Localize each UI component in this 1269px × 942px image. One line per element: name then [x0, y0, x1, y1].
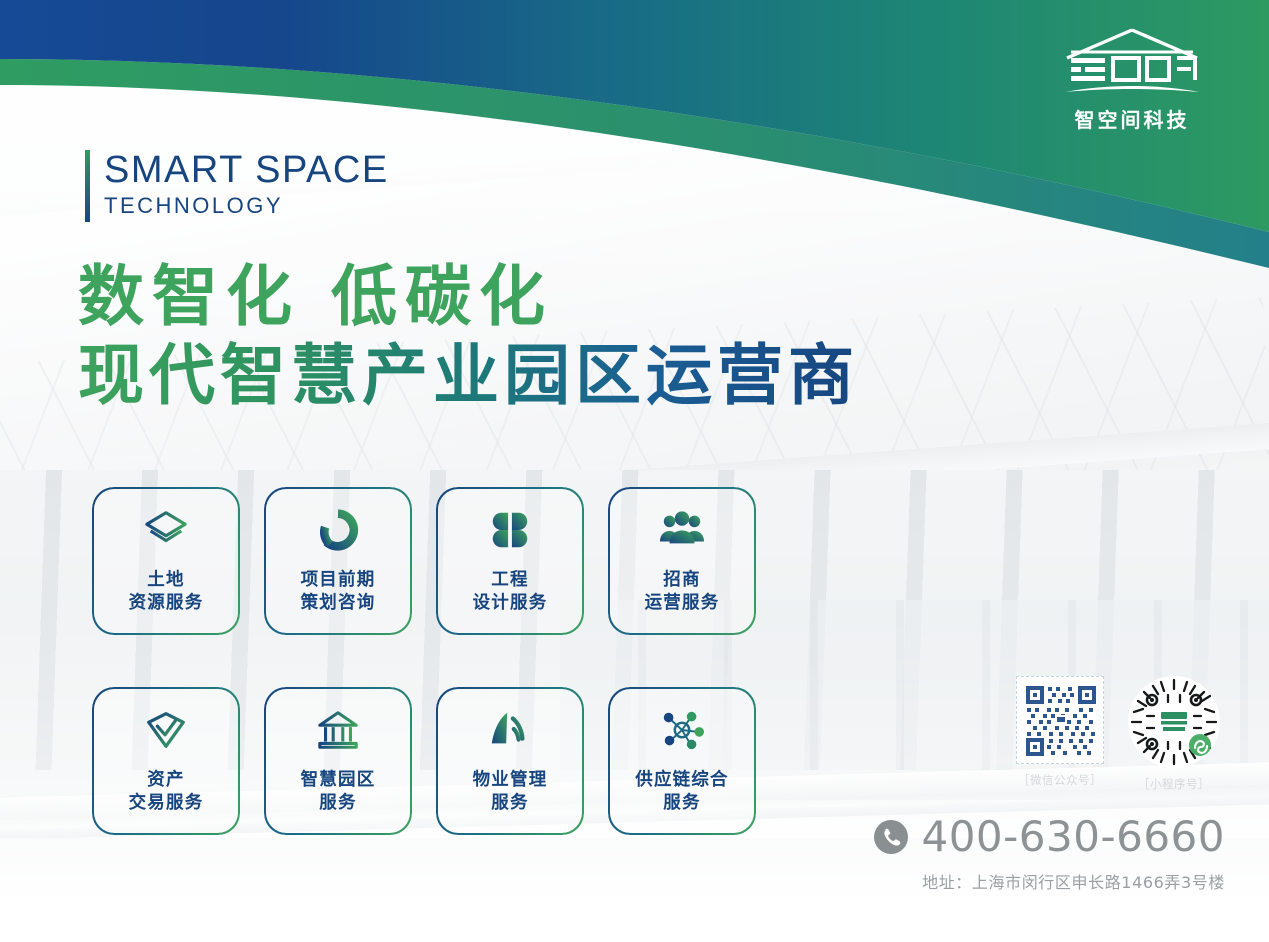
card-label-line-1: 物业管理 — [473, 770, 548, 790]
service-card-smart-park[interactable]: 智慧园区 服务 — [264, 687, 412, 835]
shield-check-icon — [143, 707, 189, 753]
card-label-line-1: 工程 — [491, 570, 528, 590]
phone-icon — [874, 820, 908, 854]
card-label-line-2: 资源服务 — [129, 593, 204, 613]
headline-block: 数智化 低碳化 现代智慧产业园区运营商 — [78, 258, 859, 415]
mini-program-qr-icon[interactable] — [1128, 676, 1220, 768]
service-card-property-management[interactable]: 物业管理 服务 — [436, 687, 584, 835]
qr-item-mini-program[interactable]: ［小程序号］ — [1126, 676, 1222, 792]
english-title-block: SMART SPACE TECHNOLOGY — [85, 150, 389, 222]
card-label-line-2: 交易服务 — [129, 793, 204, 813]
qr-code-zone: ［微信公众号］ — [1012, 676, 1222, 792]
card-label-line-2: 设计服务 — [473, 593, 548, 613]
card-label-line-2: 运营服务 — [645, 593, 720, 613]
headline-line-1: 数智化 低碳化 — [78, 258, 859, 336]
qr-caption: ［小程序号］ — [1126, 776, 1222, 792]
layers-icon — [143, 507, 189, 553]
qr-caption: ［微信公众号］ — [1012, 772, 1108, 788]
card-label-line-1: 项目前期 — [301, 570, 376, 590]
card-label-line-1: 土地 — [147, 570, 184, 590]
card-label-line-1: 资产 — [147, 770, 184, 790]
phone-number[interactable]: 400-630-6660 — [921, 812, 1225, 861]
logo-text: 智空间科技 — [1037, 104, 1227, 133]
accent-bar — [85, 150, 90, 222]
poster-canvas: 智空间科技 SMART SPACE TECHNOLOGY 数智化 低碳化 现代智… — [0, 0, 1269, 942]
headline-line-2: 现代智慧产业园区运营商 — [78, 336, 859, 415]
qr-item-official-account[interactable]: ［微信公众号］ — [1012, 676, 1108, 792]
card-label-line-2: 服务 — [319, 793, 356, 813]
card-label-line-1: 供应链综合 — [635, 770, 729, 790]
company-address: 地址：上海市闵行区申长路1466弄3号楼 — [874, 869, 1225, 893]
service-card-engineering-design[interactable]: 工程 设计服务 — [436, 487, 584, 635]
phone-row: 400-630-6660 — [874, 812, 1225, 861]
contact-block: 400-630-6660 地址：上海市闵行区申长路1466弄3号楼 — [874, 812, 1225, 893]
service-card-row-1: 土地 资源服务 项目前期 策划咨询 — [92, 487, 832, 635]
card-label-line-1: 智慧园区 — [301, 770, 376, 790]
bank-building-icon — [315, 707, 361, 753]
english-subtitle: TECHNOLOGY — [104, 193, 389, 219]
service-card-grid: 土地 资源服务 项目前期 策划咨询 — [92, 487, 832, 835]
service-card-asset-trading[interactable]: 资产 交易服务 — [92, 687, 240, 835]
network-nodes-icon — [659, 707, 705, 753]
wechat-official-qr-icon[interactable] — [1016, 676, 1104, 764]
four-petal-icon — [487, 507, 533, 553]
card-label-line-2: 服务 — [663, 793, 700, 813]
brand-logo: 智空间科技 — [1037, 22, 1227, 133]
service-card-project-planning[interactable]: 项目前期 策划咨询 — [264, 487, 412, 635]
card-label-line-2: 服务 — [491, 793, 528, 813]
service-card-land-resource[interactable]: 土地 资源服务 — [92, 487, 240, 635]
card-label-line-2: 策划咨询 — [301, 593, 376, 613]
service-card-supply-chain[interactable]: 供应链综合 服务 — [608, 687, 756, 835]
roof-building-logo-icon — [1047, 22, 1217, 102]
service-card-investment-operation[interactable]: 招商 运营服务 — [608, 487, 756, 635]
english-title: SMART SPACE — [104, 150, 389, 190]
wifi-signal-icon — [487, 707, 533, 753]
service-card-row-2: 资产 交易服务 智慧园区 服务 — [92, 687, 832, 835]
card-label-line-1: 招商 — [663, 570, 700, 590]
donut-chart-icon — [315, 507, 361, 553]
people-group-icon — [659, 507, 705, 553]
